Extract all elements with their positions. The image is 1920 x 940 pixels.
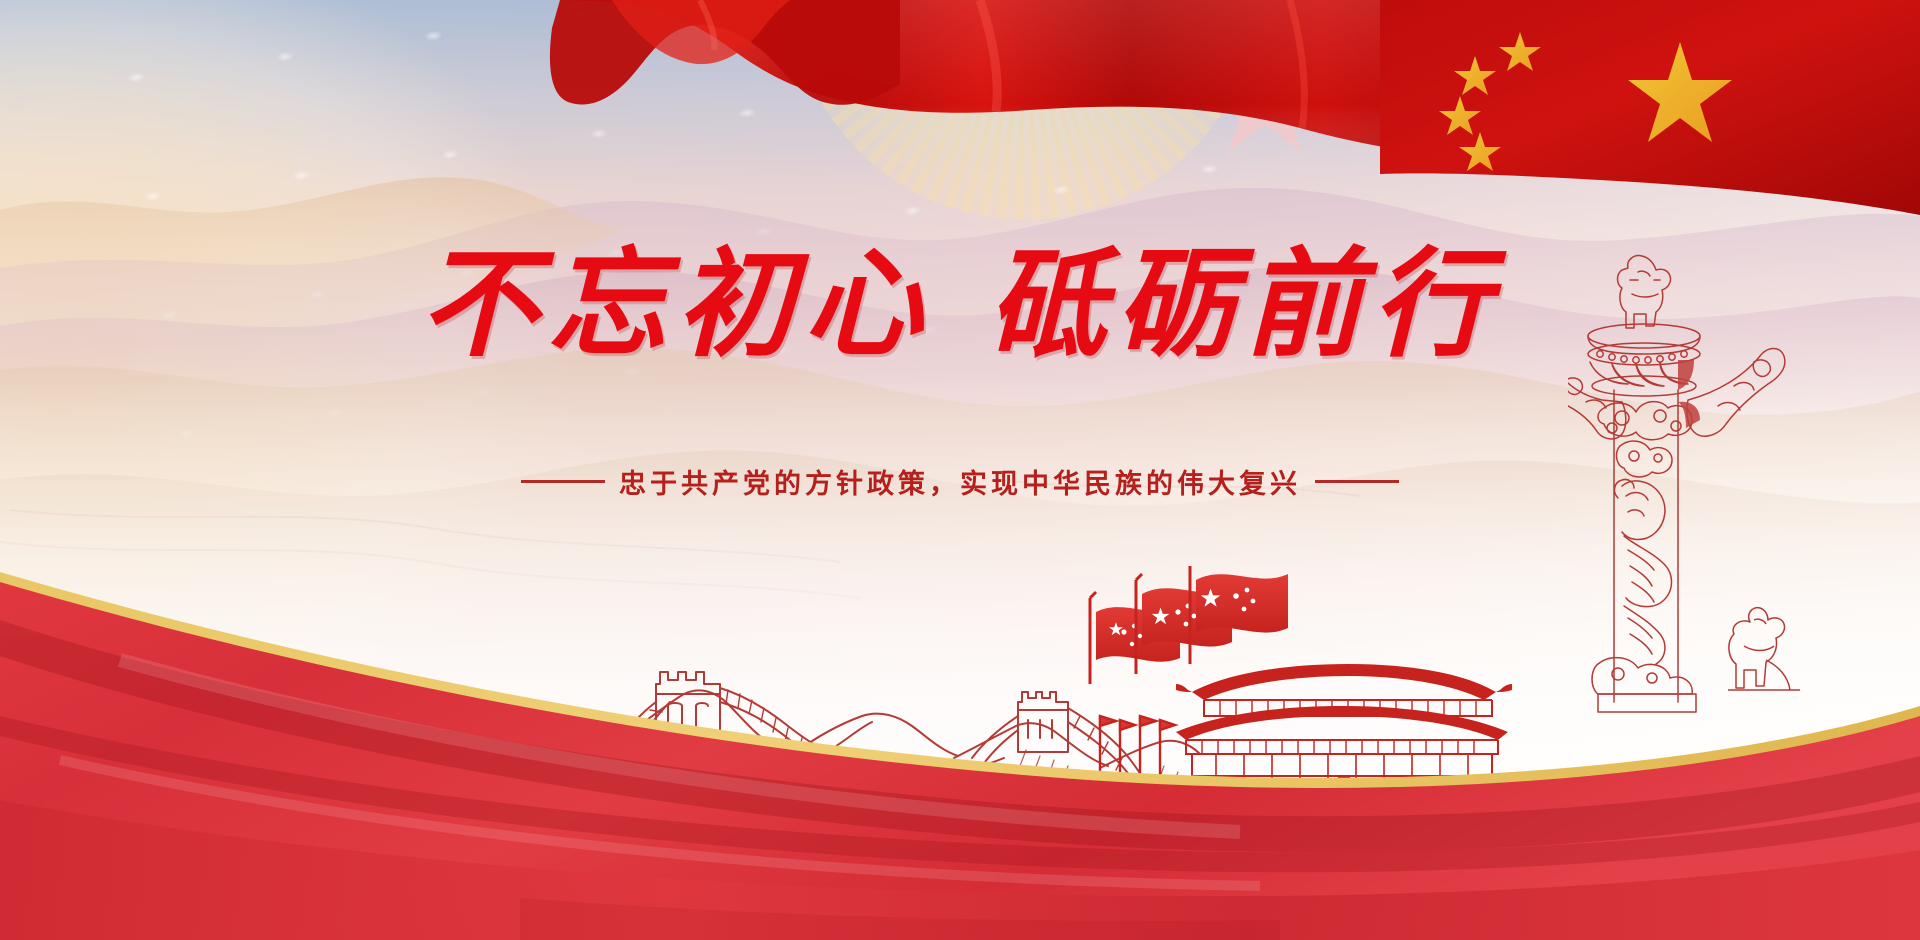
bottom-red-wave [0, 520, 1920, 940]
headline-left: 不忘初心 [420, 234, 932, 373]
subtitle-rule-right [1315, 480, 1399, 483]
subtitle-text: 忠于共产党的方针政策，实现中华民族的伟大复兴 [619, 462, 1301, 501]
poster-canvas: 不忘初心砥砺前行 忠于共产党的方针政策，实现中华民族的伟大复兴 [0, 0, 1920, 940]
chinese-national-flag-icon [1380, 0, 1920, 215]
headline-right: 砥砺前行 [988, 234, 1500, 373]
subtitle-rule-left [521, 480, 605, 483]
